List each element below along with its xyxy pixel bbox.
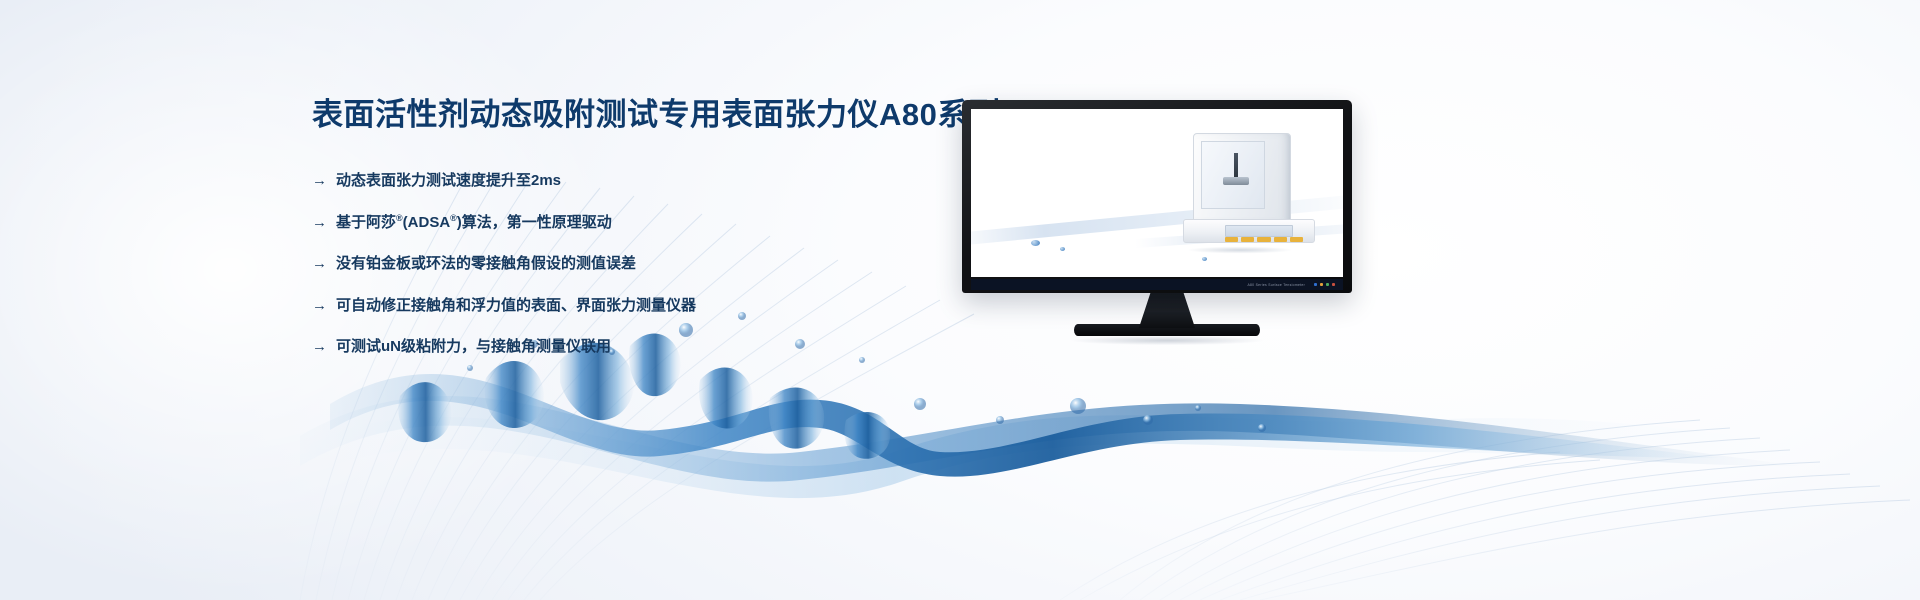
arrow-right-icon: → xyxy=(312,213,327,233)
arrow-right-icon: → xyxy=(312,171,327,191)
list-item: → 基于阿莎®(ADSA®)算法，第一性原理驱动 xyxy=(312,213,1012,233)
led-indicator-red xyxy=(1332,283,1335,286)
monitor-brand-bar: A80 Series Surface Tensiometer xyxy=(971,279,1343,290)
instrument-display-panel xyxy=(1225,225,1293,237)
water-droplet xyxy=(1202,257,1207,261)
led-indicator-green xyxy=(1326,283,1329,286)
feature-list: → 动态表面张力测试速度提升至2ms → 基于阿莎®(ADSA®)算法，第一性原… xyxy=(312,171,1012,357)
banner-text-column: 表面活性剂动态吸附测试专用表面张力仪A80系列 → 动态表面张力测试速度提升至2… xyxy=(312,96,1012,357)
instrument-glass-panel xyxy=(1201,141,1265,209)
instrument-probe-rod xyxy=(1234,153,1238,179)
hero-banner: 表面活性剂动态吸附测试专用表面张力仪A80系列 → 动态表面张力测试速度提升至2… xyxy=(0,0,1920,600)
list-item: → 可测试uN级粘附力，与接触角测量仪联用 xyxy=(312,337,1012,357)
feature-text: 动态表面张力测试速度提升至2ms xyxy=(336,171,561,191)
monitor-bezel: A80 Series Surface Tensiometer xyxy=(962,100,1352,293)
tensiometer-instrument-image xyxy=(1179,133,1317,251)
arrow-right-icon: → xyxy=(312,337,327,357)
feature-text: 基于阿莎®(ADSA®)算法，第一性原理驱动 xyxy=(336,213,612,233)
feature-text: 可测试uN级粘附力，与接触角测量仪联用 xyxy=(336,337,611,357)
list-item: → 没有铂金板或环法的零接触角假设的测值误差 xyxy=(312,254,1012,274)
water-droplet xyxy=(1031,240,1040,246)
feature-text: 没有铂金板或环法的零接触角假设的测值误差 xyxy=(336,254,636,274)
monitor-screen xyxy=(971,109,1343,277)
led-indicator-blue xyxy=(1314,283,1317,286)
product-monitor: A80 Series Surface Tensiometer xyxy=(962,100,1372,325)
instrument-shadow xyxy=(1165,245,1315,255)
arrow-right-icon: → xyxy=(312,254,327,274)
led-indicator-orange xyxy=(1320,283,1323,286)
page-title: 表面活性剂动态吸附测试专用表面张力仪A80系列 xyxy=(312,96,1012,133)
registered-mark: ® xyxy=(396,213,403,223)
registered-mark: ® xyxy=(450,213,457,223)
instrument-weighing-pan xyxy=(1223,177,1249,185)
monitor-stand-neck xyxy=(1130,292,1204,328)
monitor-brand-text: A80 Series Surface Tensiometer xyxy=(1247,283,1305,287)
list-item: → 可自动修正接触角和浮力值的表面、界面张力测量仪器 xyxy=(312,296,1012,316)
instrument-keypad xyxy=(1225,237,1303,242)
arrow-right-icon: → xyxy=(312,296,327,316)
feature-text: 可自动修正接触角和浮力值的表面、界面张力测量仪器 xyxy=(336,296,696,316)
water-droplet xyxy=(1060,247,1065,251)
list-item: → 动态表面张力测试速度提升至2ms xyxy=(312,171,1012,191)
